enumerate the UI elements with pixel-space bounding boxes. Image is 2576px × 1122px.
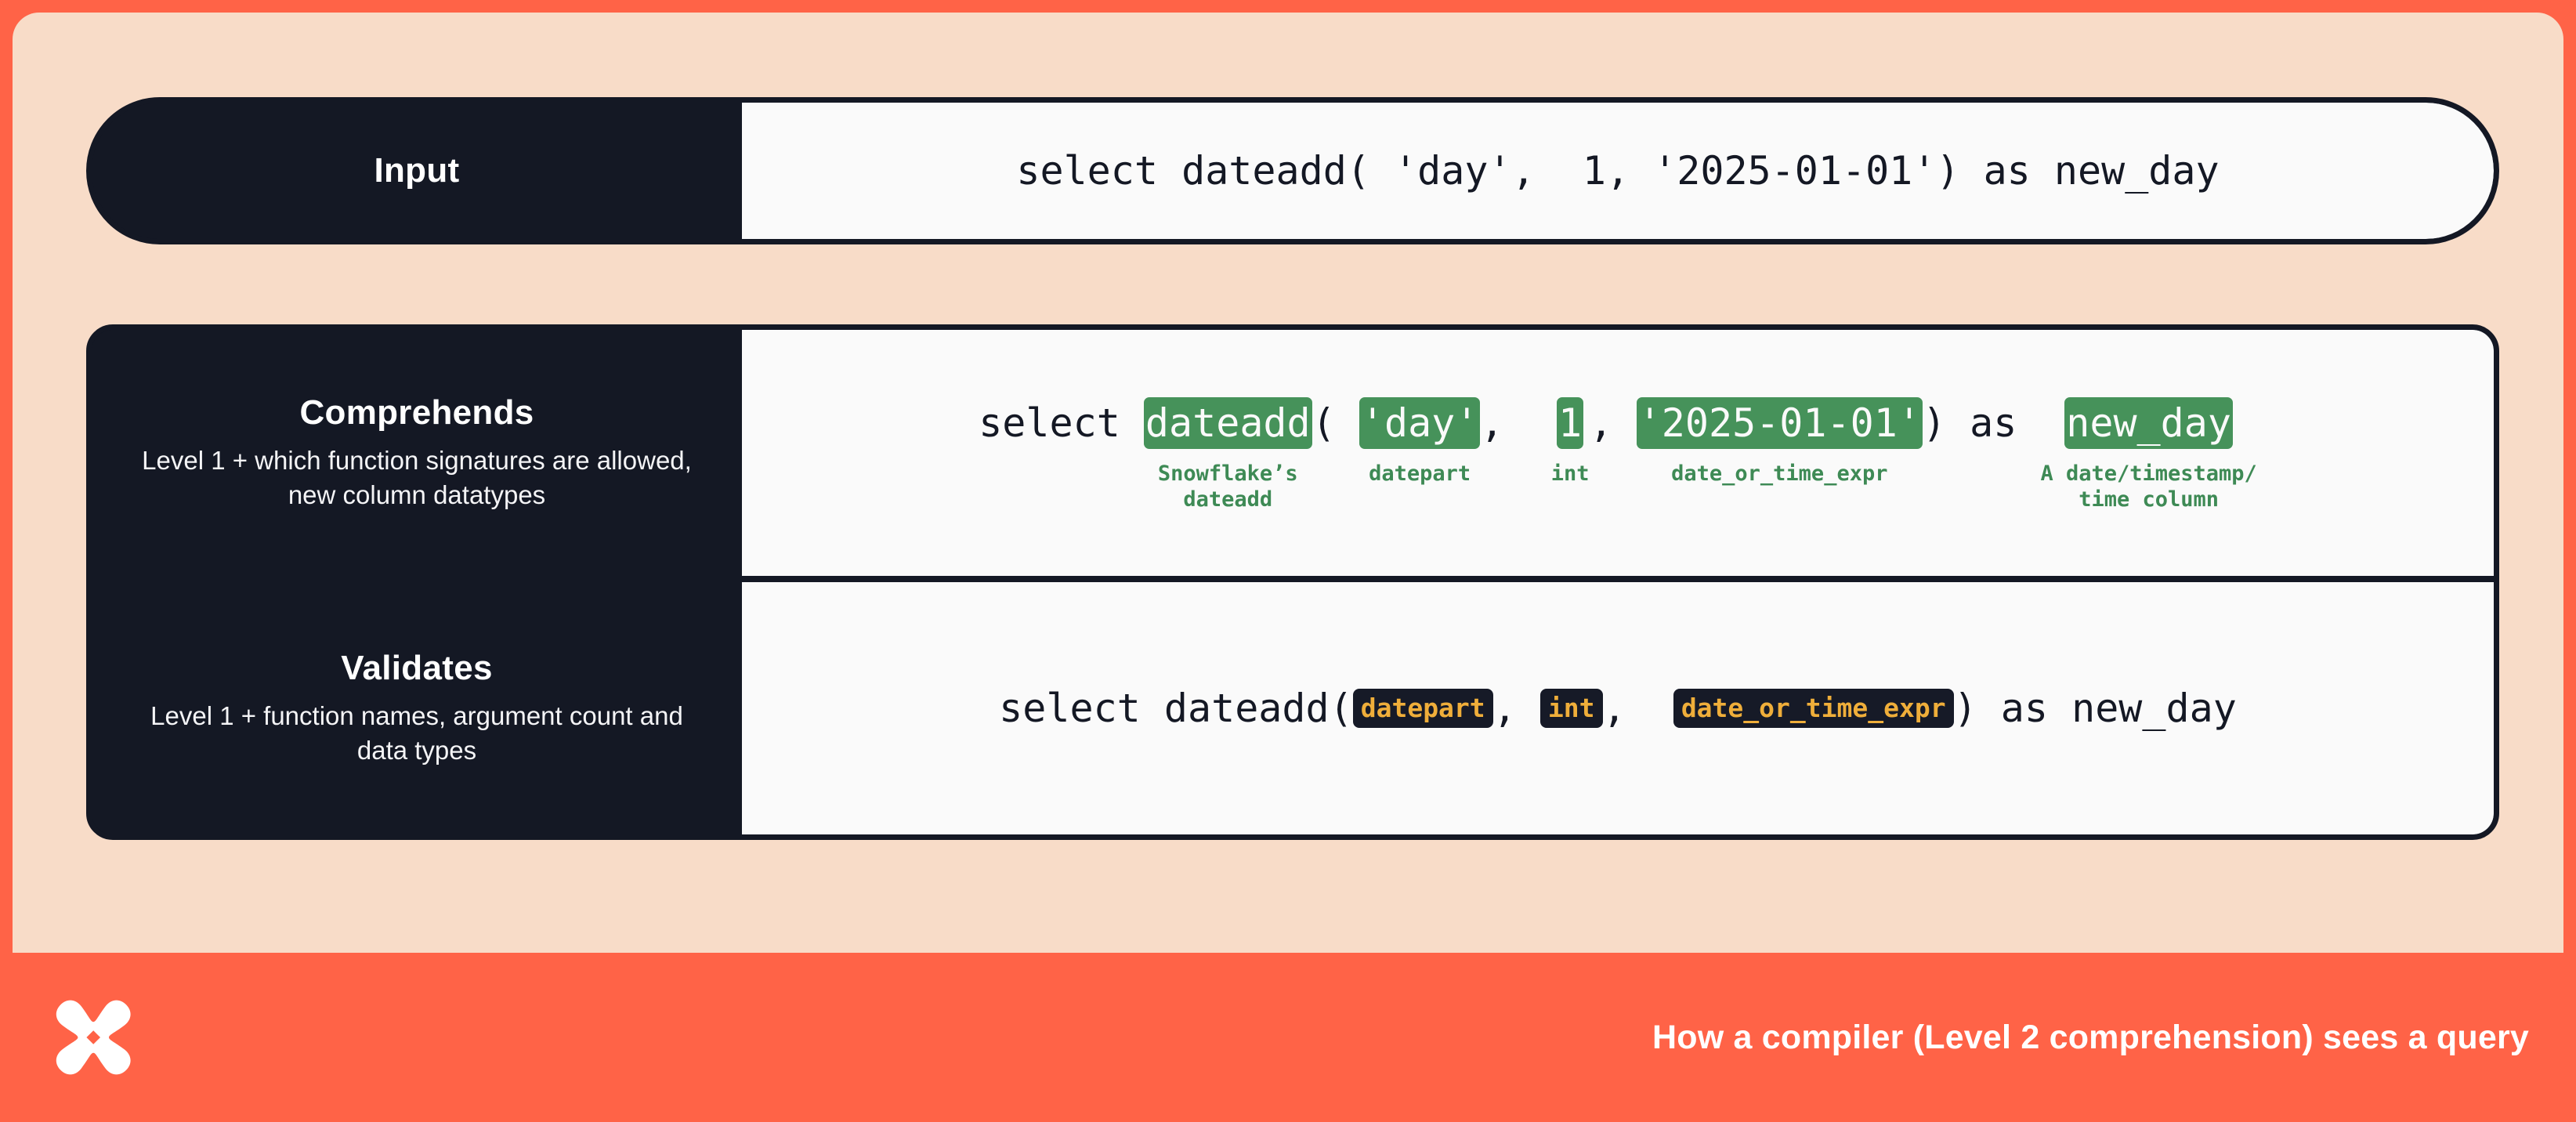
plain-token: , (1589, 397, 1636, 449)
validates-code-panel: select dateadd(datepart, int, date_or_ti… (742, 582, 2494, 834)
type-badge: datepart (1353, 689, 1493, 728)
infographic-canvas: Input select dateadd( 'day', 1, '2025-01… (0, 0, 2576, 1122)
comprehends-token: select (979, 397, 1144, 449)
plain-token: , (1493, 686, 1540, 731)
token-annotation: date_or_time_expr (1671, 461, 1887, 487)
input-row-label: Input (92, 103, 742, 239)
comprehends-token: 1int (1551, 397, 1590, 487)
plain-token: , (1480, 397, 1550, 449)
comprehends-row: Comprehends Level 1 + which function sig… (92, 330, 2494, 576)
comprehends-token: ( (1312, 397, 1359, 449)
highlighted-token: 1 (1557, 397, 1583, 449)
token-annotation: Snowflake’s dateadd (1158, 461, 1298, 513)
validates-row: Validates Level 1 + function names, argu… (92, 582, 2494, 834)
plain-token: select (979, 397, 1144, 449)
comprehends-token: new_dayA date/timestamp/ time column (2040, 397, 2256, 513)
comprehends-annotated-code: select dateaddSnowflake’s dateadd( 'day'… (979, 393, 2257, 513)
comprehends-token: '2025-01-01'date_or_time_expr (1637, 397, 1923, 487)
levels-card: Comprehends Level 1 + which function sig… (86, 324, 2499, 840)
comprehends-label-cell: Comprehends Level 1 + which function sig… (92, 330, 742, 576)
highlighted-token: dateadd (1144, 397, 1312, 449)
comprehends-token: 'day'datepart (1359, 397, 1481, 487)
validates-title: Validates (341, 649, 492, 688)
comprehends-title: Comprehends (299, 393, 534, 433)
input-code-panel: select dateadd( 'day', 1, '2025-01-01') … (742, 103, 2494, 239)
x-butterfly-logo-icon (49, 994, 135, 1080)
content-panel: Input select dateadd( 'day', 1, '2025-01… (13, 13, 2563, 953)
plain-token: ) as (1923, 397, 2041, 449)
comprehends-description: Level 1 + which function signatures are … (123, 443, 711, 512)
input-card: Input select dateadd( 'day', 1, '2025-01… (86, 97, 2499, 244)
highlighted-token: '2025-01-01' (1637, 397, 1923, 449)
comprehends-token: ) as (1923, 397, 2041, 449)
validates-code-line: select dateadd(datepart, int, date_or_ti… (999, 686, 2237, 731)
comprehends-token: dateaddSnowflake’s dateadd (1144, 397, 1312, 513)
token-annotation: datepart (1369, 461, 1471, 487)
footer-caption: How a compiler (Level 2 comprehension) s… (1652, 1019, 2529, 1057)
highlighted-token: new_day (2064, 397, 2233, 449)
highlighted-token: 'day' (1359, 397, 1481, 449)
comprehends-token: , (1589, 397, 1636, 449)
validates-label-cell: Validates Level 1 + function names, argu… (92, 582, 742, 834)
validates-description: Level 1 + function names, argument count… (123, 699, 711, 767)
comprehends-token: , (1480, 397, 1550, 449)
plain-token: , (1603, 686, 1673, 731)
plain-token: ) as new_day (1954, 686, 2237, 731)
row-divider (92, 576, 2494, 582)
plain-token: ( (1312, 397, 1359, 449)
plain-token: select dateadd( (999, 686, 1353, 731)
token-annotation: A date/timestamp/ time column (2040, 461, 2256, 513)
type-badge: date_or_time_expr (1673, 689, 1954, 728)
footer-bar: How a compiler (Level 2 comprehension) s… (0, 953, 2576, 1122)
type-badge: int (1540, 689, 1603, 728)
comprehends-code-panel: select dateaddSnowflake’s dateadd( 'day'… (742, 330, 2494, 576)
token-annotation: int (1551, 461, 1590, 487)
input-code-text: select dateadd( 'day', 1, '2025-01-01') … (1016, 148, 2219, 194)
